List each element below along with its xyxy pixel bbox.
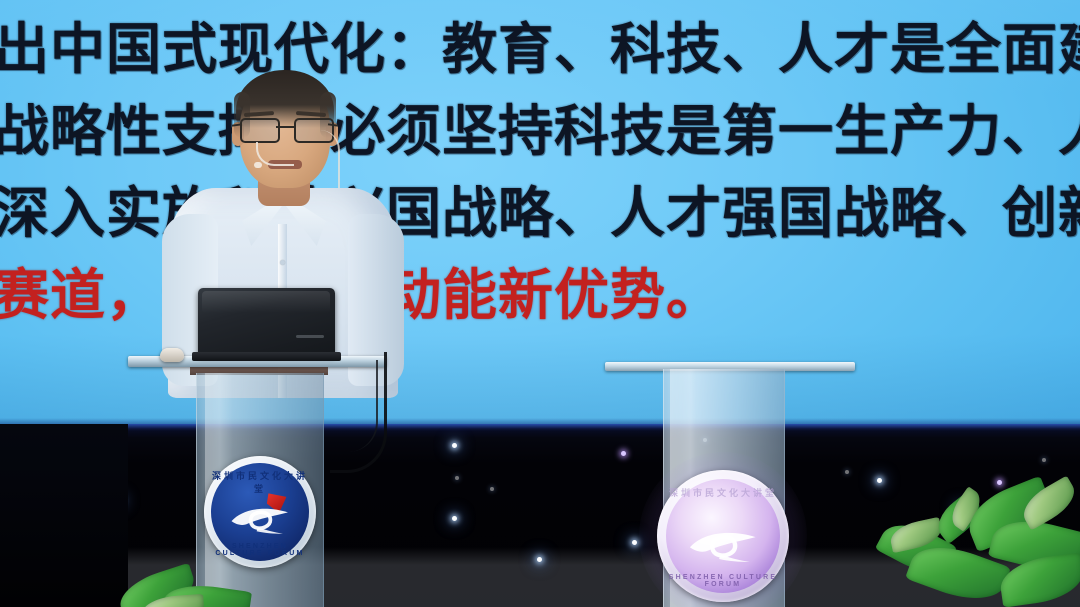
- glasses-icon: [238, 118, 332, 140]
- emblem-english-text: SHENZHEN CULTURE FORUM: [211, 543, 309, 557]
- emblem-chinese-text: 深圳市民文化大讲堂: [211, 469, 309, 495]
- shirt-button: [280, 260, 285, 265]
- slide-line-3: 深入实施科教兴国战略、人才强国战略、创新驱: [0, 186, 1080, 241]
- laptop-hinge-highlight: [296, 335, 324, 338]
- podium-right: 深圳市民文化大讲堂 SHENZHEN CULTURE FORUM: [605, 362, 855, 607]
- mic-bud: [254, 162, 262, 168]
- star-light: [452, 516, 457, 521]
- slide-line-2: 战略性支撑。必须坚持科技是第一生产力、人才: [0, 104, 1080, 159]
- mic-wire: [320, 130, 340, 188]
- slide-line-4-lead-highlight: 赛道，: [0, 263, 162, 327]
- emblem-inner-disc: 深圳市民文化大讲堂 SHENZHEN CULTURE FORUM: [666, 479, 780, 593]
- star-light: [452, 443, 457, 448]
- potted-plant-right: [880, 488, 1080, 607]
- laptop-lid: [198, 288, 335, 356]
- star-light: [490, 487, 494, 491]
- stage-left-dark-wall: [0, 424, 128, 607]
- star-light: [1042, 458, 1046, 462]
- laptop-base: [192, 352, 341, 361]
- bird-icon: [229, 502, 292, 535]
- emblem-shenzhen-culture-forum-left: 深圳市民文化大讲堂 SHENZHEN CULTURE FORUM: [204, 456, 316, 568]
- emblem-shenzhen-culture-forum-right: 深圳市民文化大讲堂 SHENZHEN CULTURE FORUM: [657, 470, 789, 602]
- laptop[interactable]: [198, 288, 335, 362]
- star-light-violet: [997, 480, 1002, 485]
- bird-icon: [687, 525, 760, 564]
- slide-line-1: 出中国式现代化：教育、科技、人才是全面建设: [0, 22, 1080, 77]
- emblem-inner-disc: 深圳市民文化大讲堂 SHENZHEN CULTURE FORUM: [211, 463, 309, 561]
- emblem-english-text: SHENZHEN CULTURE FORUM: [666, 574, 780, 588]
- cable-secondary: [338, 360, 378, 452]
- star-light: [455, 476, 459, 480]
- emblem-chinese-text: 深圳市民文化大讲堂: [666, 486, 780, 499]
- star-light: [537, 557, 542, 562]
- potted-plant-left: [118, 556, 268, 607]
- glasses-lens-left: [240, 118, 280, 143]
- stage-scene: 出中国式现代化：教育、科技、人才是全面建设 战略性支撑。必须坚持科技是第一生产力…: [0, 0, 1080, 607]
- laptop-screen-gloss: [202, 291, 330, 313]
- glasses-bridge: [276, 126, 294, 128]
- star-light: [877, 478, 882, 483]
- computer-mouse[interactable]: [160, 348, 184, 362]
